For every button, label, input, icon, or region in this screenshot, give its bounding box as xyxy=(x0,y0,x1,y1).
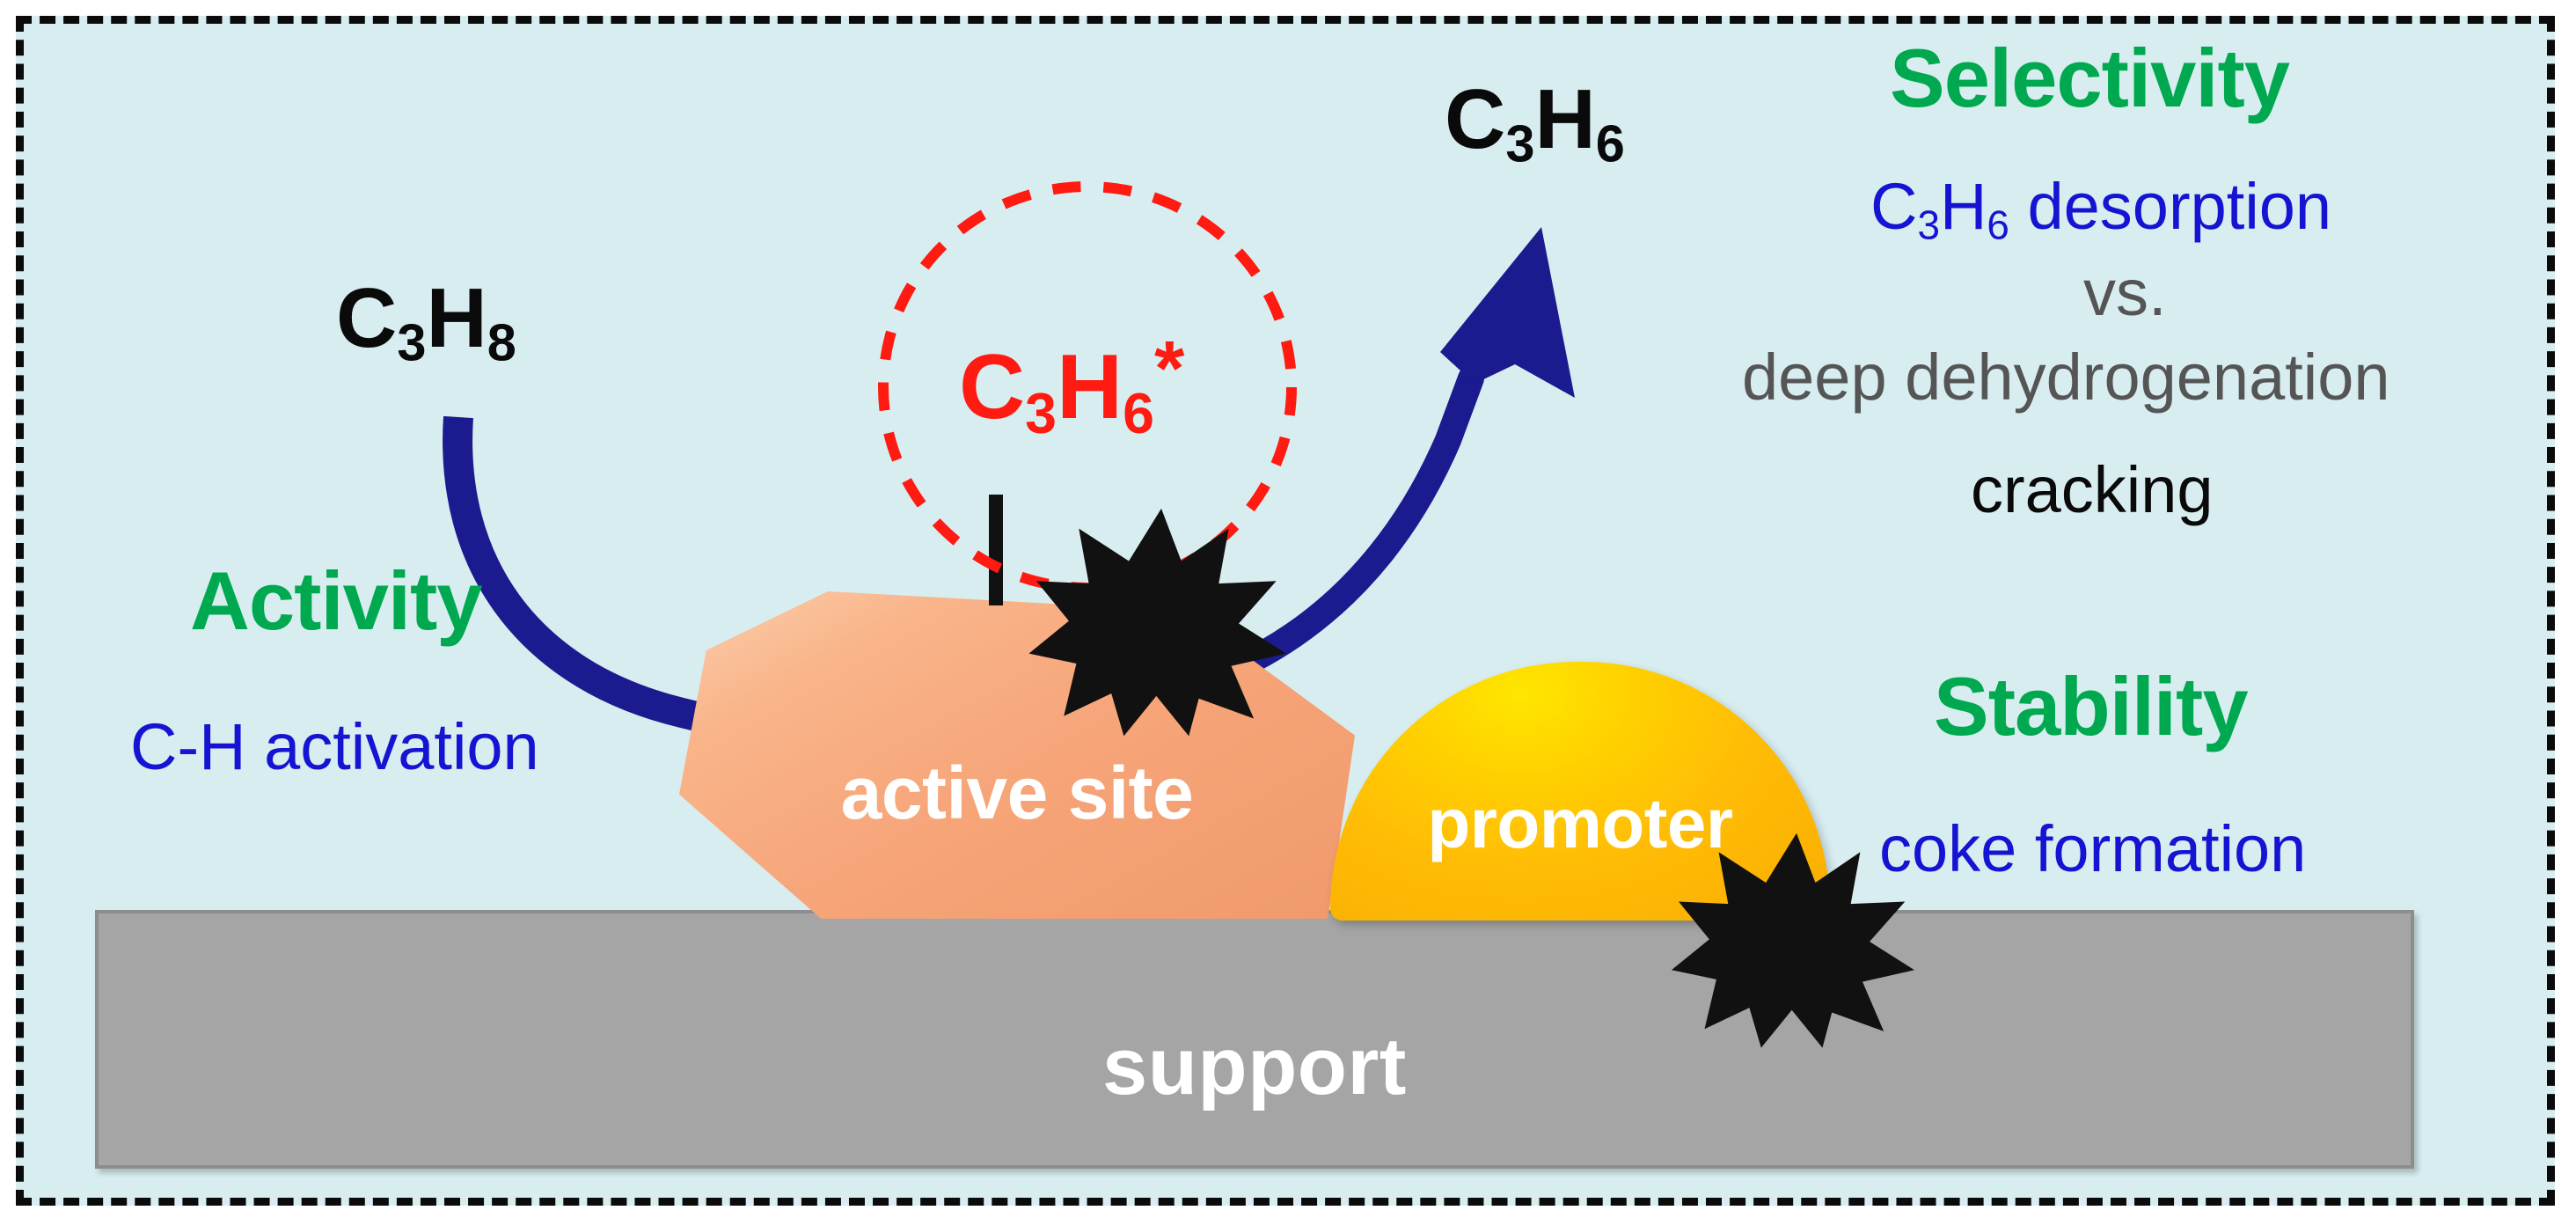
coke-on-promoter-icon xyxy=(1672,833,1914,1048)
intermediate-formula: C3H6* xyxy=(959,341,1184,433)
intermediate-star: * xyxy=(1154,324,1184,411)
scene: support active site promoter xyxy=(0,0,2576,1225)
sel-c: C xyxy=(1870,170,1917,243)
sel-sub-6: 6 xyxy=(1987,202,2009,247)
intermediate-sub-3: 3 xyxy=(1025,382,1057,445)
figure-canvas: support active site promoter xyxy=(0,0,2576,1225)
intermediate-c: C xyxy=(959,336,1025,438)
sel-h: H xyxy=(1940,170,1987,243)
product-formula: C3H6 xyxy=(1445,77,1625,162)
activity-heading: Activity xyxy=(190,560,482,642)
intermediate-sub-6: 6 xyxy=(1123,382,1154,445)
sel-desorption-word: desorption xyxy=(2009,170,2331,243)
selectivity-line-cracking: cracking xyxy=(1971,458,2214,523)
selectivity-line-deep-dehydrogenation: deep dehydrogenation xyxy=(1742,345,2390,410)
stability-heading: Stability xyxy=(1934,665,2248,748)
intermediate-h: H xyxy=(1057,336,1123,438)
reactant-sub-3: 3 xyxy=(397,312,426,371)
reactant-sub-8: 8 xyxy=(487,312,516,371)
selectivity-line-desorption: C3H6 desorption xyxy=(1870,174,2331,239)
product-sub-3: 3 xyxy=(1505,114,1534,172)
reactant-c: C xyxy=(336,271,397,365)
product-sub-6: 6 xyxy=(1596,114,1625,172)
selectivity-line-vs: vs. xyxy=(2083,260,2167,326)
activity-line-1: C-H activation xyxy=(130,715,539,780)
selectivity-heading: Selectivity xyxy=(1890,37,2289,120)
product-c: C xyxy=(1445,72,1505,166)
reactant-h: H xyxy=(426,271,487,365)
reactant-formula: C3H8 xyxy=(336,276,516,361)
sel-sub-3: 3 xyxy=(1917,202,1940,247)
stability-line-1: coke formation xyxy=(1879,817,2306,882)
product-h: H xyxy=(1534,72,1595,166)
coke-on-active-site-icon xyxy=(1028,509,1286,736)
